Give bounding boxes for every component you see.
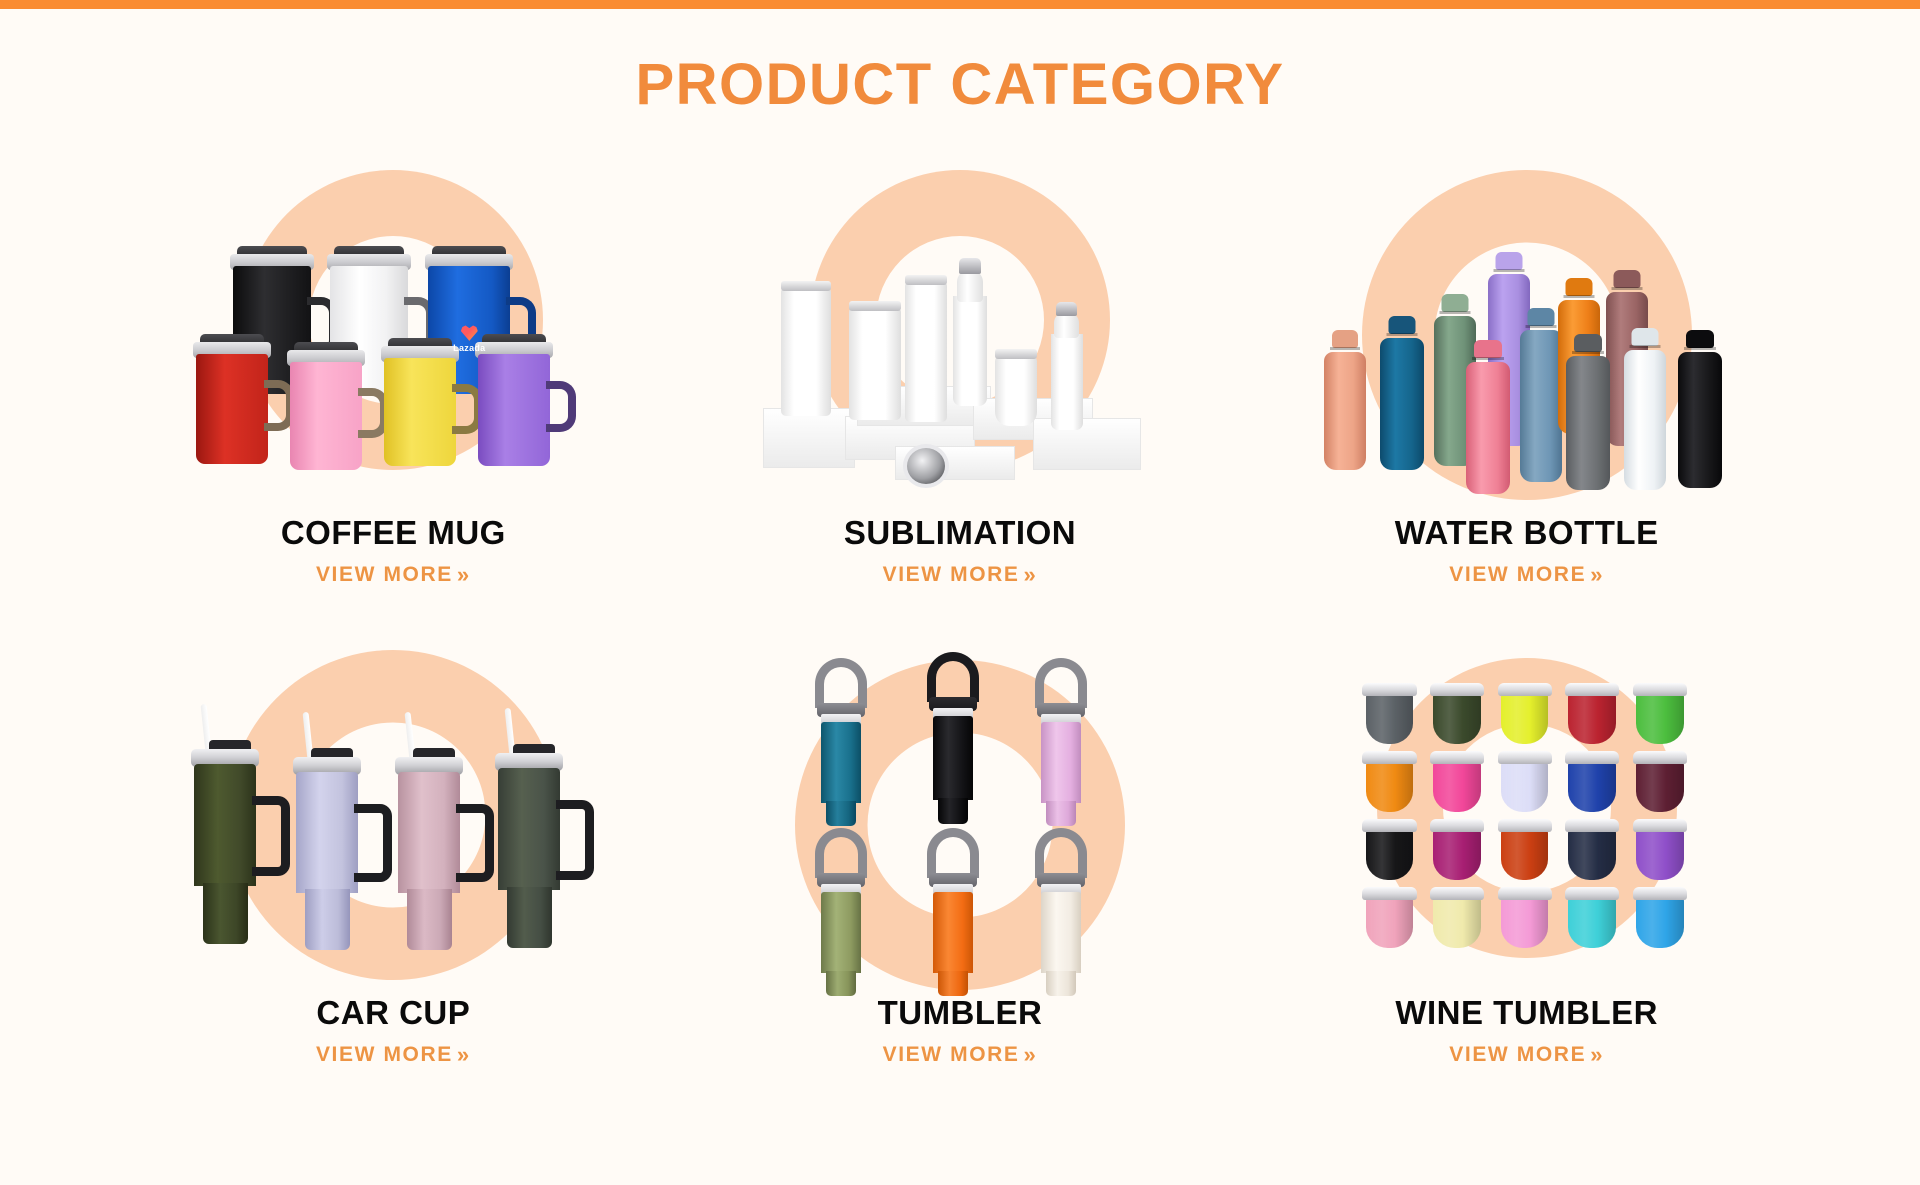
sublimation-small-bottle-cap (1056, 302, 1077, 316)
category-label-water-bottle: WATER BOTTLE (1395, 514, 1659, 552)
view-more-text: VIEW MORE (883, 563, 1020, 587)
sublimation-cola-bottle-cap (959, 258, 981, 274)
view-more-sublimation[interactable]: VIEW MORE » (883, 562, 1038, 588)
water-bottle-product-group (1312, 166, 1742, 496)
tumbler-product-group (745, 646, 1175, 976)
category-card-tumbler[interactable]: TUMBLER VIEW MORE » (677, 646, 1244, 1126)
wine-tumbler-turquoise (1568, 896, 1616, 948)
wine-tumbler-light-pink (1501, 896, 1549, 948)
wine-tumbler-black (1366, 828, 1414, 880)
wine-tumbler-lid (1362, 751, 1416, 764)
sublimation-cola-bottle-shoulder (957, 270, 983, 302)
tumbler-teal (821, 722, 861, 826)
wine-tumbler-product-group (1312, 646, 1742, 976)
bottle-dark-gray (1566, 356, 1610, 490)
category-grid: Lazada (0, 166, 1920, 1126)
category-label-tumbler: TUMBLER (878, 994, 1043, 1032)
wine-tumbler-lid (1498, 887, 1552, 900)
category-card-coffee-mug[interactable]: Lazada (110, 166, 677, 646)
wine-tumbler-artwork (1312, 646, 1742, 976)
car-cup-lavender (296, 772, 358, 950)
bottle-white (1624, 350, 1666, 490)
chevron-right-icon: » (457, 562, 471, 588)
category-label-sublimation: SUBLIMATION (844, 514, 1076, 552)
wine-tumbler-maroon (1636, 760, 1684, 812)
bottle-salmon (1324, 352, 1366, 470)
wine-tumbler-purple (1636, 828, 1684, 880)
sublimation-artwork (745, 166, 1175, 496)
tumbler-artwork (745, 646, 1175, 976)
view-more-wine-tumbler[interactable]: VIEW MORE » (1449, 1042, 1604, 1068)
category-card-car-cup[interactable]: CAR CUP VIEW MORE » (110, 646, 677, 1126)
view-more-text: VIEW MORE (316, 1043, 453, 1067)
mug-pink (290, 362, 362, 470)
sublimation-skinny-tumbler (781, 288, 831, 416)
chevron-right-icon: » (457, 1042, 471, 1068)
display-plinth (1033, 418, 1141, 470)
wine-tumbler-gray (1366, 692, 1414, 744)
category-card-sublimation[interactable]: SUBLIMATION VIEW MORE » (677, 166, 1244, 646)
bottle-pink (1466, 362, 1510, 494)
wine-tumbler-lid (1430, 887, 1484, 900)
tumbler-orange (933, 892, 973, 996)
chevron-right-icon: » (1024, 562, 1038, 588)
wine-tumbler-royal-blue (1568, 760, 1616, 812)
mug-red (196, 354, 268, 464)
lazada-heart-icon (461, 325, 478, 341)
coffee-mug-artwork: Lazada (178, 166, 608, 496)
tumbler-black (933, 716, 973, 824)
wine-tumbler-hot-pink (1433, 760, 1481, 812)
coffee-mug-product-group: Lazada (178, 166, 608, 496)
top-accent-bar (0, 0, 1920, 9)
mug-yellow (384, 358, 456, 466)
bottle-teal (1380, 338, 1424, 470)
wine-tumbler-lid (1633, 751, 1687, 764)
wine-tumbler-lid (1498, 819, 1552, 832)
sublimation-loose-lid (903, 444, 949, 488)
wine-tumbler-navy (1568, 828, 1616, 880)
category-label-wine-tumbler: WINE TUMBLER (1395, 994, 1658, 1032)
sublimation-cola-bottle (953, 296, 987, 406)
wine-tumbler-green (1636, 692, 1684, 744)
tumbler-cream (1041, 892, 1081, 996)
view-more-tumbler[interactable]: VIEW MORE » (883, 1042, 1038, 1068)
wine-tumbler-red (1568, 692, 1616, 744)
bottle-steel-blue (1520, 330, 1562, 482)
wine-tumbler-dark-olive (1433, 692, 1481, 744)
tumbler-lilac (1041, 722, 1081, 826)
view-more-text: VIEW MORE (883, 1043, 1020, 1067)
wine-tumbler-lid (1430, 819, 1484, 832)
sublimation-flask (905, 282, 947, 422)
bottle-black (1678, 352, 1722, 488)
category-card-wine-tumbler[interactable]: WINE TUMBLER VIEW MORE » (1243, 646, 1810, 1126)
wine-tumbler-lilac-white (1501, 760, 1549, 812)
wine-tumbler-lid (1633, 683, 1687, 696)
page-title: PRODUCT CATEGORY (0, 51, 1920, 118)
category-label-coffee-mug: COFFEE MUG (281, 514, 506, 552)
wine-tumbler-lid (1565, 751, 1619, 764)
wine-tumbler-orange (1366, 760, 1414, 812)
car-cup-dusty-pink (398, 772, 460, 950)
wine-tumbler-lid (1565, 819, 1619, 832)
category-card-water-bottle[interactable]: WATER BOTTLE VIEW MORE » (1243, 166, 1810, 646)
wine-tumbler-sky-blue (1636, 896, 1684, 948)
car-cup-artwork (178, 646, 608, 976)
wine-tumbler-lid (1362, 819, 1416, 832)
wine-tumbler-lid (1430, 751, 1484, 764)
wine-tumbler-lid (1498, 683, 1552, 696)
mug-purple (478, 354, 550, 466)
wine-tumbler-rust (1501, 828, 1549, 880)
wine-tumbler-lid (1565, 887, 1619, 900)
wine-tumbler-lid (1565, 683, 1619, 696)
wine-tumbler-lid (1498, 751, 1552, 764)
display-plinth (763, 408, 855, 468)
wine-tumbler-pale-yellow (1433, 896, 1481, 948)
chevron-right-icon: » (1024, 1042, 1038, 1068)
wine-tumbler-magenta (1433, 828, 1481, 880)
water-bottle-artwork (1312, 166, 1742, 496)
wine-tumbler-lid (1633, 819, 1687, 832)
chevron-right-icon: » (1590, 562, 1604, 588)
sublimation-small-bottle (1051, 334, 1083, 430)
wine-tumbler-yellow (1501, 692, 1549, 744)
view-more-car-cup[interactable]: VIEW MORE » (316, 1042, 471, 1068)
wine-tumbler-pink (1366, 896, 1414, 948)
sublimation-egg-tumbler (995, 356, 1037, 426)
wine-tumbler-grid (1360, 682, 1690, 948)
view-more-coffee-mug[interactable]: VIEW MORE » (316, 562, 471, 588)
lazada-brand-mark: Lazada (453, 325, 485, 353)
lazada-wordmark: Lazada (453, 343, 485, 353)
car-cup-slate-green (498, 768, 560, 948)
view-more-water-bottle[interactable]: VIEW MORE » (1449, 562, 1604, 588)
category-label-car-cup: CAR CUP (316, 994, 470, 1032)
chevron-right-icon: » (1590, 1042, 1604, 1068)
wine-tumbler-lid (1362, 887, 1416, 900)
tumbler-olive (821, 892, 861, 996)
wine-tumbler-lid (1430, 683, 1484, 696)
wine-tumbler-lid (1633, 887, 1687, 900)
view-more-text: VIEW MORE (316, 563, 453, 587)
view-more-text: VIEW MORE (1449, 1043, 1586, 1067)
view-more-text: VIEW MORE (1449, 563, 1586, 587)
sublimation-product-group (745, 166, 1175, 496)
wine-tumbler-lid (1362, 683, 1416, 696)
sublimation-tumbler (849, 308, 901, 420)
car-cup-olive (194, 764, 256, 944)
car-cup-product-group (178, 646, 608, 976)
